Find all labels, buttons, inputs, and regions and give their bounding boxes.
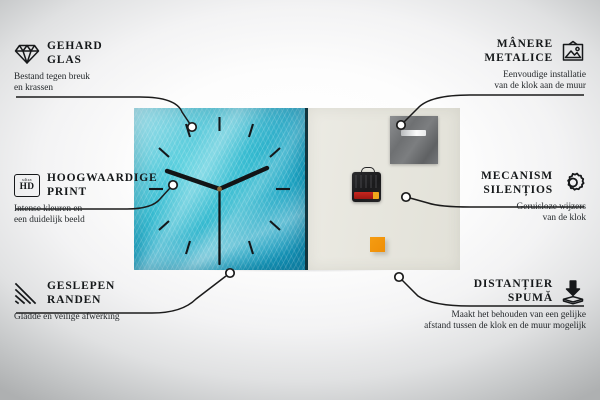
callout-description: Bestand tegen breuk en krassen	[14, 72, 196, 95]
hanger-slot	[401, 130, 426, 136]
callout-title: DISTANȚIER SPUMĂ	[474, 278, 553, 305]
hand-center-cap	[217, 187, 222, 192]
callout-description: Eenvoudige installatie van de klok aan d…	[400, 70, 586, 93]
callout-polished-edges: GESLEPEN RANDEN Gladde en veilige afwerk…	[14, 280, 196, 323]
movement-hanging-loop	[361, 167, 375, 175]
spacer-arrow-icon	[560, 279, 586, 305]
infographic-canvas: GEHARD GLAS Bestand tegen breuk en krass…	[0, 0, 600, 400]
callout-title: MECANISM SILENȚIOS	[481, 170, 553, 197]
battery	[354, 192, 379, 199]
callout-header: GEHARD GLAS	[14, 40, 196, 67]
movement-face-detail	[355, 175, 378, 188]
battery-positive-terminal	[373, 192, 379, 199]
callout-foam-spacer: DISTANȚIER SPUMĂ Maakt het behouden van …	[382, 278, 586, 333]
gear-icon	[560, 171, 586, 197]
callout-title: GESLEPEN RANDEN	[47, 280, 115, 307]
callout-title: HOOGWAARDIGE PRINT	[47, 172, 158, 199]
callout-title: MÂNERE METALICE	[484, 38, 553, 65]
quartz-movement	[352, 172, 381, 202]
callout-header: GESLEPEN RANDEN	[14, 280, 196, 307]
callout-description: Intense kleuren en een duidelijk beeld	[14, 204, 196, 227]
foam-spacer	[370, 237, 385, 252]
metal-hanger-plate	[390, 116, 438, 164]
callout-description: Maakt het behouden van een gelijke afsta…	[382, 310, 586, 333]
wall-mount-picture-icon	[560, 39, 586, 65]
callout-metal-handles: MÂNERE METALICE Eenvoudige installatie v…	[400, 38, 586, 93]
beveled-edges-icon	[14, 281, 40, 307]
callout-tempered-glass: GEHARD GLAS Bestand tegen breuk en krass…	[14, 40, 196, 95]
callout-high-quality-print: ultra HD HOOGWAARDIGE PRINT Intense kleu…	[14, 172, 196, 227]
minute-hand	[220, 168, 268, 189]
diamond-icon	[14, 41, 40, 67]
callout-header: MÂNERE METALICE	[400, 38, 586, 65]
callout-header: MECANISM SILENȚIOS	[408, 170, 586, 197]
callout-header: DISTANȚIER SPUMĂ	[382, 278, 586, 305]
callout-description: Geruisloze wijzers van de klok	[408, 202, 586, 225]
callout-title: GEHARD GLAS	[47, 40, 103, 67]
callout-description: Gladde en veilige afwerking	[14, 312, 196, 323]
callout-header: ultra HD HOOGWAARDIGE PRINT	[14, 172, 196, 199]
hd-badge-main-label: HD	[20, 183, 35, 192]
callout-silent-mechanism: MECANISM SILENȚIOS Geruisloze wijzers va…	[408, 170, 586, 225]
ultra-hd-badge-icon: ultra HD	[14, 173, 40, 199]
